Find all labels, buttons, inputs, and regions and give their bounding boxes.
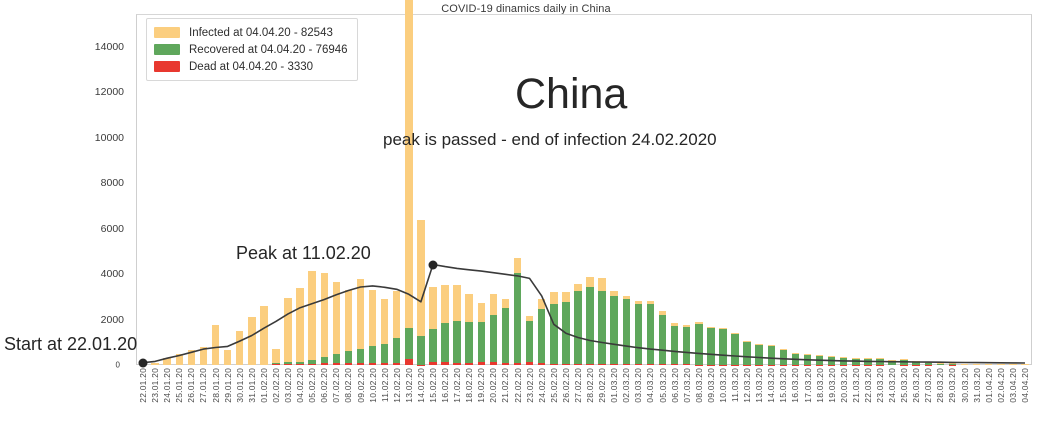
x-tick-label: 02.04.20 <box>996 368 1006 403</box>
x-tick-label: 04.03.20 <box>645 368 655 403</box>
x-tick-label: 22.03.20 <box>863 368 873 403</box>
x-tick-label: 15.03.20 <box>778 368 788 403</box>
x-tick-label: 24.01.20 <box>162 368 172 403</box>
x-tick-label: 19.02.20 <box>476 368 486 403</box>
x-tick-label: 29.03.20 <box>947 368 957 403</box>
x-tick-label: 17.03.20 <box>803 368 813 403</box>
x-tick-label: 21.02.20 <box>500 368 510 403</box>
legend-swatch-infected-icon <box>154 27 180 38</box>
x-tick-label: 11.02.20 <box>380 368 390 402</box>
x-tick-label: 14.03.20 <box>766 368 776 403</box>
y-tick-label: 8000 <box>101 177 124 189</box>
x-tick-label: 02.02.20 <box>271 368 281 403</box>
x-tick-label: 24.02.20 <box>537 368 547 403</box>
x-tick-label: 11.03.20 <box>730 368 740 402</box>
x-tick-label: 06.02.20 <box>319 368 329 403</box>
x-tick-label: 26.03.20 <box>911 368 921 403</box>
y-tick-label: 12000 <box>95 86 124 98</box>
x-tick-label: 08.02.20 <box>343 368 353 403</box>
x-tick-label: 10.02.20 <box>368 368 378 403</box>
x-tick-label: 09.03.20 <box>706 368 716 403</box>
x-tick-label: 25.02.20 <box>549 368 559 403</box>
legend-item-infected[interactable]: Infected at 04.04.20 - 82543 <box>154 24 348 41</box>
y-tick-label: 14000 <box>95 41 124 53</box>
x-tick-label: 01.02.20 <box>259 368 269 403</box>
x-tick-label: 10.03.20 <box>718 368 728 403</box>
chart-legend: Infected at 04.04.20 - 82543 Recovered a… <box>146 18 358 81</box>
y-tick-label: 4000 <box>101 268 124 280</box>
x-tick-label: 08.03.20 <box>694 368 704 403</box>
x-tick-label: 03.04.20 <box>1008 368 1018 403</box>
x-tick-label: 03.03.20 <box>633 368 643 403</box>
y-tick-label: 10000 <box>95 132 124 144</box>
x-tick-label: 02.03.20 <box>621 368 631 403</box>
x-tick-label: 20.03.20 <box>839 368 849 403</box>
x-tick-label: 28.01.20 <box>211 368 221 403</box>
legend-label-dead: Dead at 04.04.20 - 3330 <box>189 61 313 73</box>
x-tick-label: 30.01.20 <box>235 368 245 403</box>
x-tick-label: 07.02.20 <box>331 368 341 403</box>
x-tick-label: 04.04.20 <box>1020 368 1030 403</box>
x-tick-label: 26.02.20 <box>561 368 571 403</box>
x-tick-label: 16.02.20 <box>440 368 450 403</box>
x-tick-label: 26.01.20 <box>186 368 196 403</box>
annotation-start: Start at 22.01.20 <box>4 334 137 355</box>
x-tick-label: 25.03.20 <box>899 368 909 403</box>
x-tick-label: 24.03.20 <box>887 368 897 403</box>
x-tick-label: 21.03.20 <box>851 368 861 403</box>
x-tick-label: 04.02.20 <box>295 368 305 403</box>
x-tick-label: 01.04.20 <box>984 368 994 403</box>
x-tick-label: 15.02.20 <box>428 368 438 403</box>
x-tick-label: 28.03.20 <box>935 368 945 403</box>
legend-label-recovered: Recovered at 04.04.20 - 76946 <box>189 44 348 56</box>
x-tick-label: 22.02.20 <box>513 368 523 403</box>
x-tick-label: 29.01.20 <box>223 368 233 403</box>
x-tick-label: 31.01.20 <box>247 368 257 403</box>
x-tick-label: 13.02.20 <box>404 368 414 403</box>
y-axis: 02000400060008000100001200014000 <box>0 0 132 424</box>
y-tick-label: 0 <box>116 361 120 370</box>
y-tick-label: 6000 <box>101 223 124 235</box>
x-tick-label: 23.01.20 <box>150 368 160 403</box>
legend-item-dead[interactable]: Dead at 04.04.20 - 3330 <box>154 58 348 75</box>
legend-swatch-recovered-icon <box>154 44 180 55</box>
x-axis: 22.01.2023.01.2024.01.2025.01.2026.01.20… <box>137 366 1031 424</box>
x-tick-label: 20.02.20 <box>488 368 498 403</box>
y-tick-label: 2000 <box>101 314 124 326</box>
legend-swatch-dead-icon <box>154 61 180 72</box>
x-tick-label: 30.03.20 <box>960 368 970 403</box>
x-tick-label: 05.02.20 <box>307 368 317 403</box>
x-tick-label: 27.02.20 <box>573 368 583 403</box>
x-tick-label: 13.03.20 <box>754 368 764 403</box>
chart-root: COVID-19 dinamics daily in China 0200040… <box>0 0 1052 424</box>
x-tick-label: 17.02.20 <box>452 368 462 403</box>
x-tick-label: 16.03.20 <box>790 368 800 403</box>
x-tick-label: 12.03.20 <box>742 368 752 403</box>
annotation-peak-passed: peak is passed - end of infection 24.02.… <box>383 130 717 150</box>
x-tick-label: 18.02.20 <box>464 368 474 403</box>
x-tick-label: 27.03.20 <box>923 368 933 403</box>
x-tick-label: 23.02.20 <box>525 368 535 403</box>
x-tick-label: 27.01.20 <box>198 368 208 403</box>
annotation-peak: Peak at 11.02.20 <box>236 243 371 264</box>
x-tick-label: 22.01.20 <box>138 368 148 403</box>
x-tick-label: 12.02.20 <box>392 368 402 403</box>
x-tick-label: 28.02.20 <box>585 368 595 403</box>
annotation-country: China <box>515 70 627 119</box>
legend-item-recovered[interactable]: Recovered at 04.04.20 - 76946 <box>154 41 348 58</box>
x-tick-label: 19.03.20 <box>827 368 837 403</box>
x-tick-label: 25.01.20 <box>174 368 184 403</box>
x-tick-label: 23.03.20 <box>875 368 885 403</box>
x-tick-label: 29.02.20 <box>597 368 607 403</box>
marker-peak <box>428 260 437 269</box>
x-tick-label: 06.03.20 <box>670 368 680 403</box>
x-tick-label: 03.02.20 <box>283 368 293 403</box>
x-tick-label: 14.02.20 <box>416 368 426 403</box>
x-tick-label: 01.03.20 <box>609 368 619 403</box>
x-tick-label: 09.02.20 <box>356 368 366 403</box>
x-tick-label: 31.03.20 <box>972 368 982 403</box>
legend-label-infected: Infected at 04.04.20 - 82543 <box>189 27 333 39</box>
x-tick-label: 18.03.20 <box>815 368 825 403</box>
x-tick-label: 07.03.20 <box>682 368 692 403</box>
x-tick-label: 05.03.20 <box>658 368 668 403</box>
